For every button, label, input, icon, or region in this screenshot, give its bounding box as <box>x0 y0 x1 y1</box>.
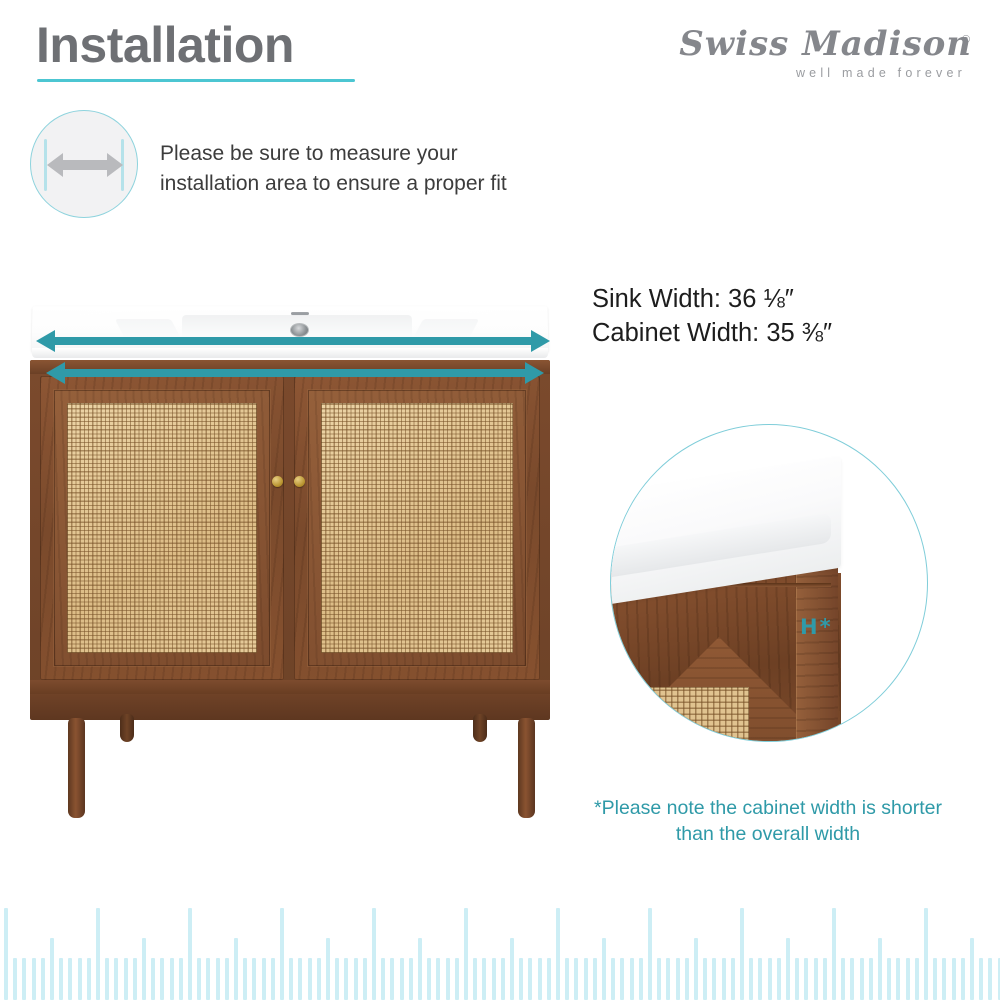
dimension-labels: Sink Width: 36 ⅛″ Cabinet Width: 35 ⅜″ <box>592 283 832 350</box>
ruler-tick <box>712 958 716 1000</box>
ruler-tick <box>124 958 128 1000</box>
ruler-tick <box>197 958 201 1000</box>
ruler-tick <box>887 958 891 1000</box>
arrow-shaft <box>54 337 532 345</box>
ruler-tick <box>786 938 790 1000</box>
ruler-tick <box>22 958 26 1000</box>
arrow-shaft <box>64 369 526 377</box>
detail-callout-circle <box>610 424 928 742</box>
cabinet-knob-right <box>294 476 305 487</box>
ruler-tick <box>243 958 247 1000</box>
cabinet-body <box>30 360 550 698</box>
ruler-tick <box>639 958 643 1000</box>
cabinet-knob-left <box>272 476 283 487</box>
ruler-tick <box>915 958 919 1000</box>
ruler-decoration <box>0 880 1000 1000</box>
ruler-tick <box>814 958 818 1000</box>
door-bevel-left <box>54 390 270 666</box>
ruler-tick <box>648 908 652 1000</box>
ruler-tick <box>400 958 404 1000</box>
sink-width-label: Sink Width: 36 ⅛″ <box>592 283 832 317</box>
ruler-tick <box>547 958 551 1000</box>
ruler-tick <box>206 958 210 1000</box>
ruler-tick <box>234 938 238 1000</box>
ruler-tick <box>804 958 808 1000</box>
ruler-tick <box>685 958 689 1000</box>
ruler-tick <box>335 958 339 1000</box>
ruler-tick <box>620 958 624 1000</box>
ruler-tick <box>78 958 82 1000</box>
ruler-tick <box>749 958 753 1000</box>
vanity-leg-front-right <box>518 718 535 818</box>
ruler-tick <box>105 958 109 1000</box>
ruler-tick <box>869 958 873 1000</box>
ruler-tick <box>455 958 459 1000</box>
ruler-tick <box>538 958 542 1000</box>
ruler-tick <box>225 958 229 1000</box>
ruler-tick <box>602 938 606 1000</box>
ruler-tick <box>795 958 799 1000</box>
ruler-tick <box>436 958 440 1000</box>
vanity-leg-back-right <box>473 714 487 742</box>
detail-cane-panel <box>629 687 749 742</box>
ruler-tick <box>758 958 762 1000</box>
cabinet-width-footnote: *Please note the cabinet width is shorte… <box>588 795 948 848</box>
ruler-tick <box>363 958 367 1000</box>
ruler-tick <box>860 958 864 1000</box>
ruler-tick <box>528 958 532 1000</box>
sink-width-arrow <box>36 330 550 352</box>
ruler-tick <box>464 908 468 1000</box>
arrow-head-left <box>46 362 65 384</box>
brand-logo: Swiss Madison ® well made forever <box>672 24 972 86</box>
double-arrow-glyph <box>47 149 123 181</box>
ruler-tick <box>574 958 578 1000</box>
ruler-tick <box>160 958 164 1000</box>
ruler-tick <box>326 938 330 1000</box>
ruler-tick <box>703 958 707 1000</box>
ruler-tick <box>390 958 394 1000</box>
ruler-tick <box>59 958 63 1000</box>
cane-panel-right <box>321 403 513 653</box>
ruler-tick <box>823 958 827 1000</box>
overhang-callout-label: H* <box>800 615 833 639</box>
ruler-tick <box>4 908 8 1000</box>
ruler-tick <box>446 958 450 1000</box>
ruler-tick <box>41 958 45 1000</box>
ruler-tick <box>262 958 266 1000</box>
ruler-tick <box>510 938 514 1000</box>
ruler-tick <box>418 938 422 1000</box>
door-bevel-right <box>308 390 526 666</box>
ruler-tick <box>96 908 100 1000</box>
ruler-tick <box>942 958 946 1000</box>
ruler-tick <box>308 958 312 1000</box>
ruler-tick <box>216 958 220 1000</box>
ruler-tick <box>906 958 910 1000</box>
title-underline <box>37 79 355 82</box>
ruler-tick <box>676 958 680 1000</box>
ruler-tick <box>878 938 882 1000</box>
ruler-tick <box>473 958 477 1000</box>
ruler-tick <box>694 938 698 1000</box>
ruler-tick <box>280 908 284 1000</box>
ruler-tick <box>740 908 744 1000</box>
ruler-tick <box>501 958 505 1000</box>
vanity-leg-front-left <box>68 718 85 818</box>
arrow-head-left <box>36 330 55 352</box>
detail-cabinet-edge <box>796 565 838 742</box>
ruler-tick <box>298 958 302 1000</box>
ruler-tick <box>271 958 275 1000</box>
ruler-tick <box>841 958 845 1000</box>
ruler-tick <box>188 908 192 1000</box>
ruler-tick <box>492 958 496 1000</box>
ruler-tick <box>179 958 183 1000</box>
ruler-tick <box>556 908 560 1000</box>
vanity-illustration <box>20 290 568 810</box>
ruler-tick <box>961 958 965 1000</box>
measure-instruction-text: Please be sure to measure your installat… <box>160 139 560 199</box>
ruler-tick <box>344 958 348 1000</box>
ruler-tick <box>32 958 36 1000</box>
ruler-tick <box>924 908 928 1000</box>
installation-infographic-page: Installation Swiss Madison ® well made f… <box>0 0 1000 1000</box>
ruler-tick <box>289 958 293 1000</box>
cabinet-width-arrow <box>46 362 544 384</box>
ruler-tick <box>427 958 431 1000</box>
ruler-tick <box>170 958 174 1000</box>
ruler-tick <box>142 938 146 1000</box>
ruler-tick <box>584 958 588 1000</box>
cane-panel-left <box>67 403 257 653</box>
cabinet-door-right <box>294 376 540 680</box>
ruler-tick <box>151 958 155 1000</box>
ruler-tick <box>252 958 256 1000</box>
ruler-tick <box>519 958 523 1000</box>
ruler-tick <box>409 958 413 1000</box>
ruler-tick <box>850 958 854 1000</box>
ruler-tick <box>896 958 900 1000</box>
ruler-tick <box>317 958 321 1000</box>
brand-tagline: well made forever <box>796 66 966 80</box>
ruler-tick <box>114 958 118 1000</box>
ruler-tick <box>133 958 137 1000</box>
ruler-tick <box>565 958 569 1000</box>
vanity-leg-back-left <box>120 714 134 742</box>
cabinet-door-left <box>40 376 284 680</box>
ruler-tick <box>768 958 772 1000</box>
arrow-head-right <box>531 330 550 352</box>
ruler-tick <box>354 958 358 1000</box>
ruler-tick <box>988 958 992 1000</box>
ruler-tick <box>13 958 17 1000</box>
sink-overflow-slot <box>291 312 309 315</box>
page-title: Installation <box>36 20 294 70</box>
cabinet-width-label: Cabinet Width: 35 ⅜″ <box>592 317 832 351</box>
ruler-tick <box>593 958 597 1000</box>
ruler-tick <box>381 958 385 1000</box>
ruler-tick <box>970 938 974 1000</box>
ruler-tick <box>87 958 91 1000</box>
ruler-tick <box>832 908 836 1000</box>
ruler-tick <box>68 958 72 1000</box>
ruler-tick <box>933 958 937 1000</box>
ruler-tick <box>952 958 956 1000</box>
ruler-tick <box>630 958 634 1000</box>
ruler-tick <box>777 958 781 1000</box>
arrow-head-right <box>525 362 544 384</box>
registered-trademark-icon: ® <box>962 34 970 46</box>
cabinet-apron <box>30 694 550 720</box>
ruler-tick <box>611 958 615 1000</box>
width-measure-arrow-icon <box>30 110 138 218</box>
ruler-tick <box>657 958 661 1000</box>
brand-name: Swiss Madison <box>672 24 972 64</box>
ruler-tick <box>722 958 726 1000</box>
ruler-tick <box>372 908 376 1000</box>
ruler-tick <box>482 958 486 1000</box>
ruler-tick <box>666 958 670 1000</box>
ruler-tick <box>50 938 54 1000</box>
ruler-tick <box>731 958 735 1000</box>
ruler-tick <box>979 958 983 1000</box>
